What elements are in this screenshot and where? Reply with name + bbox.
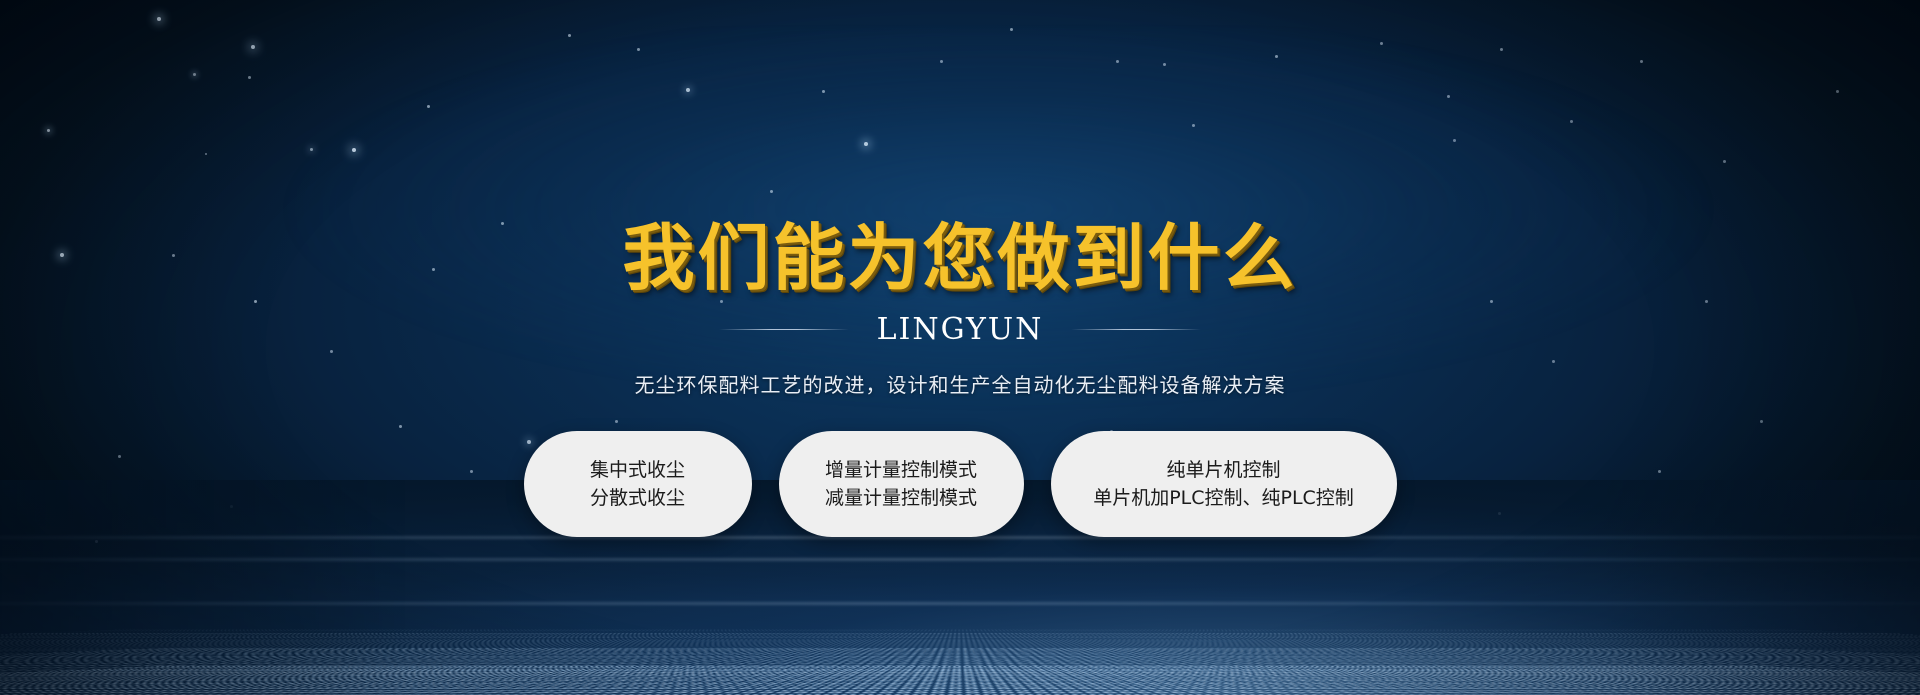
feature-card-line: 分散式收尘	[590, 489, 685, 508]
divider-right	[1071, 329, 1201, 330]
banner-content: 我们能为您做到什么 LINGYUN 无尘环保配料工艺的改进，设计和生产全自动化无…	[0, 0, 1920, 695]
brand-row: LINGYUN	[719, 312, 1202, 347]
feature-card-line: 减量计量控制模式	[825, 489, 977, 508]
feature-card-line: 增量计量控制模式	[825, 461, 977, 480]
feature-card-line: 纯单片机控制	[1166, 461, 1280, 480]
brand-name-en: LINGYUN	[877, 312, 1044, 347]
divider-left	[719, 329, 849, 330]
feature-card[interactable]: 集中式收尘 分散式收尘	[524, 431, 752, 537]
feature-card[interactable]: 增量计量控制模式 减量计量控制模式	[779, 431, 1024, 537]
feature-card-list: 集中式收尘 分散式收尘 增量计量控制模式 减量计量控制模式 纯单片机控制 单片机…	[524, 431, 1397, 537]
hero-banner: 我们能为您做到什么 LINGYUN 无尘环保配料工艺的改进，设计和生产全自动化无…	[0, 0, 1920, 695]
feature-card-line: 单片机加PLC控制、纯PLC控制	[1093, 489, 1354, 508]
banner-headline: 我们能为您做到什么	[622, 222, 1297, 294]
banner-subtitle: 无尘环保配料工艺的改进，设计和生产全自动化无尘配料设备解决方案	[635, 369, 1286, 398]
feature-card[interactable]: 纯单片机控制 单片机加PLC控制、纯PLC控制	[1051, 431, 1397, 537]
feature-card-line: 集中式收尘	[590, 461, 685, 480]
